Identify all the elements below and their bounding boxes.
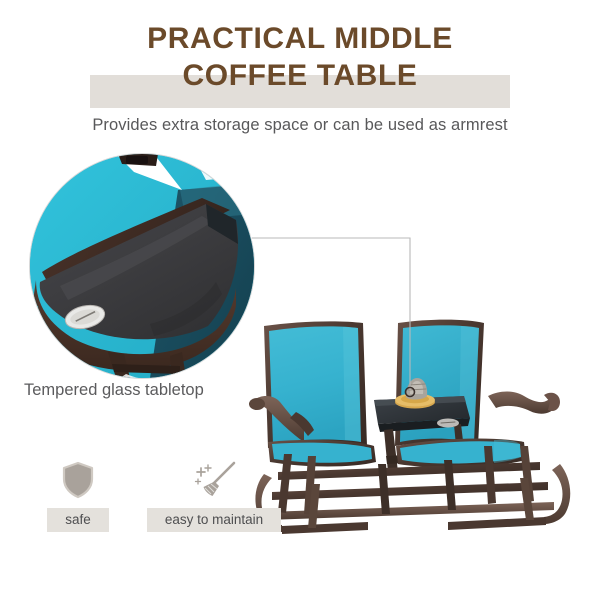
feature-badge-label: safe: [47, 508, 109, 532]
page-title: PRACTICAL MIDDLE COFFEE TABLE: [0, 20, 600, 94]
broom-sparkle-icon: [144, 452, 284, 508]
shield-icon: [24, 452, 132, 508]
feature-badge-label: easy to maintain: [147, 508, 281, 532]
callout-caption: Tempered glass tabletop: [24, 381, 284, 400]
title-line-1: PRACTICAL MIDDLE: [0, 20, 600, 57]
page-subtitle: Provides extra storage space or can be u…: [0, 116, 600, 135]
callout-circle-tabletop-closeup: [30, 154, 254, 378]
product-feature-infographic: PRACTICAL MIDDLE COFFEE TABLE Provides e…: [0, 0, 600, 600]
feature-badge-easy-to-maintain: easy to maintain: [144, 452, 284, 532]
tabletop-closeup-illustration: [30, 154, 254, 378]
product-image-glider-chair: [248, 296, 600, 552]
title-line-2: COFFEE TABLE: [0, 57, 600, 94]
feature-badge-safe: safe: [24, 452, 132, 532]
